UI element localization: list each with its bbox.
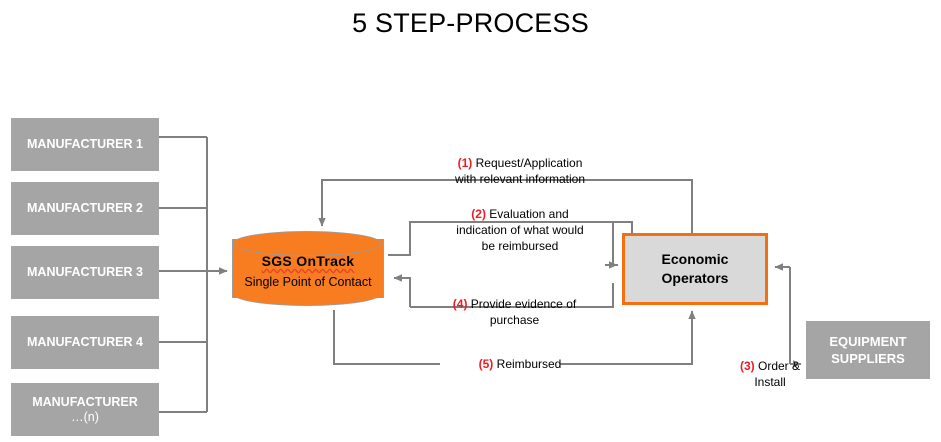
manufacturer-box-3[interactable]: MANUFACTURER 3 — [11, 246, 159, 299]
step-4-line2: purchase — [432, 312, 597, 328]
manufacturer-label: MANUFACTURER 3 — [27, 265, 143, 280]
step-3-line2: Install — [725, 374, 815, 390]
step-3-line1: Order & — [758, 359, 800, 373]
manufacturer-box-2[interactable]: MANUFACTURER 2 — [11, 182, 159, 235]
manufacturer-label-suffix: …(n) — [71, 410, 99, 425]
step-1-label: (1) Request/Application with relevant in… — [420, 155, 620, 187]
step-4-line1: Provide evidence of — [471, 297, 576, 311]
economic-operators-box[interactable]: Economic Operators — [622, 233, 768, 305]
manufacturer-label: MANUFACTURER 1 — [27, 137, 143, 152]
manufacturer-box-1[interactable]: MANUFACTURER 1 — [11, 118, 159, 171]
manufacturer-box-n[interactable]: MANUFACTURER …(n) — [11, 383, 159, 436]
diagram-canvas: 5 STEP-PROCESS — [0, 0, 941, 442]
step-5-label: (5) Reimbursed — [440, 356, 600, 372]
step-2-number: (2) — [471, 207, 486, 221]
step-1-line1: Request/Application — [476, 156, 583, 170]
step-2-label: (2) Evaluation and indication of what wo… — [440, 206, 600, 254]
step-4-label: (4) Provide evidence of purchase — [432, 296, 597, 328]
step-2-line2: indication of what would — [440, 222, 600, 238]
step-3-label: (3) Order & Install — [725, 358, 815, 390]
step-4-number: (4) — [453, 297, 468, 311]
equipment-suppliers-line1: EQUIPMENT — [829, 333, 906, 350]
step-5-number: (5) — [479, 357, 494, 371]
step-1-line2: with relevant information — [420, 171, 620, 187]
sgs-ontrack-cylinder[interactable]: SGS OnTrack Single Point of Contact — [232, 231, 384, 307]
equipment-suppliers-box[interactable]: EQUIPMENT SUPPLIERS — [806, 321, 930, 379]
hub-title: SGS OnTrack — [262, 253, 355, 269]
step-5-line1: Reimbursed — [497, 357, 562, 371]
economic-operators-line2: Operators — [662, 269, 729, 288]
economic-operators-line1: Economic — [662, 250, 729, 269]
equipment-suppliers-line2: SUPPLIERS — [829, 350, 906, 367]
step-2-line1: Evaluation and — [489, 207, 568, 221]
manufacturer-label: MANUFACTURER 4 — [27, 335, 143, 350]
step-1-number: (1) — [458, 156, 473, 170]
step-3-number: (3) — [740, 359, 755, 373]
manufacturer-label: MANUFACTURER — [32, 395, 138, 410]
manufacturer-box-4[interactable]: MANUFACTURER 4 — [11, 316, 159, 369]
step-2-line3: be reimbursed — [440, 238, 600, 254]
cylinder-text: SGS OnTrack Single Point of Contact — [232, 253, 384, 289]
hub-subtitle: Single Point of Contact — [232, 275, 384, 289]
manufacturer-label: MANUFACTURER 2 — [27, 201, 143, 216]
